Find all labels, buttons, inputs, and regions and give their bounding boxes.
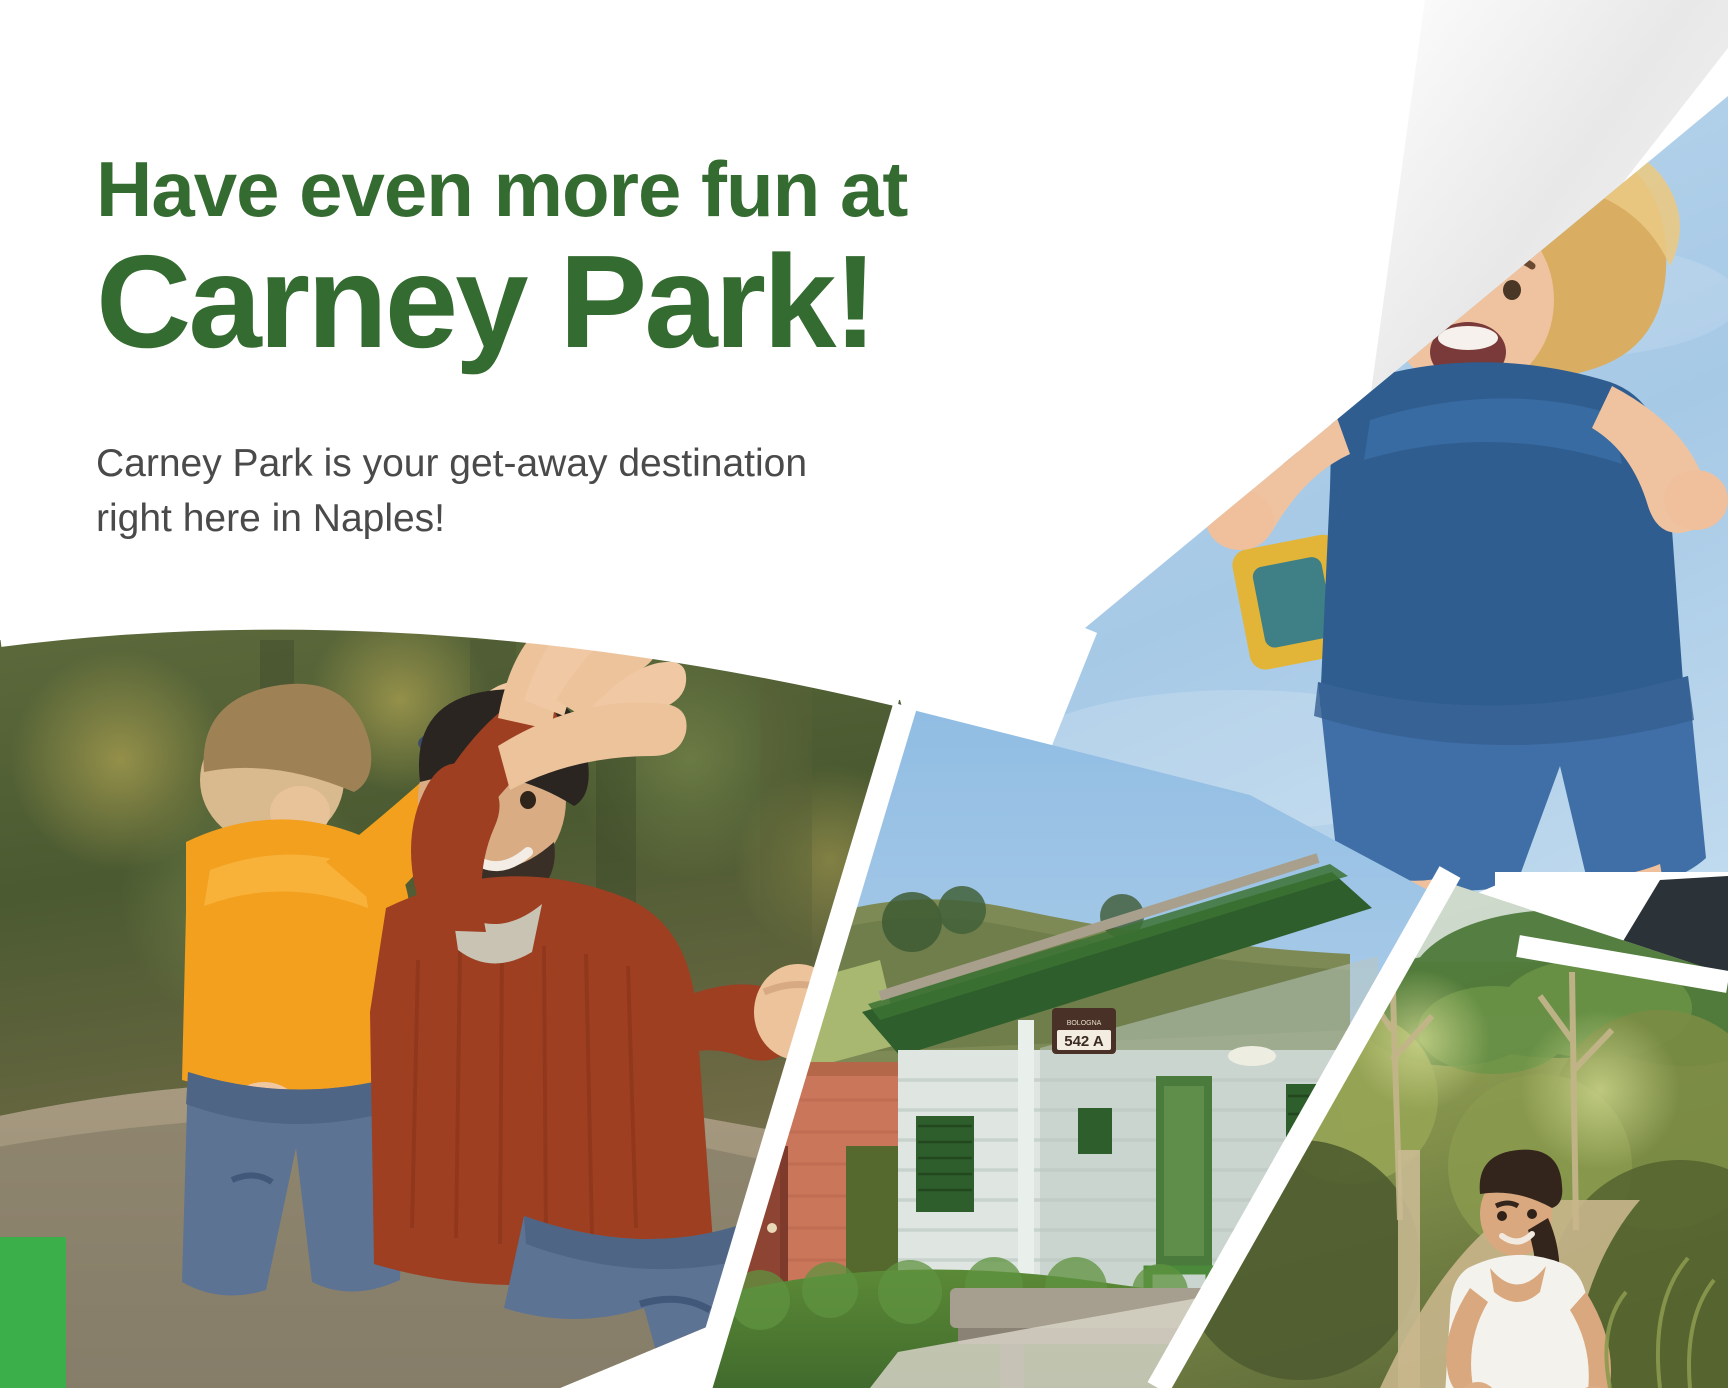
poster-root: 542 A BOLOGNA: [0, 0, 1728, 1388]
cabin-sign-name: BOLOGNA: [1067, 1020, 1102, 1027]
cabin-sign-number: 542 A: [1064, 1033, 1104, 1050]
subhead-block: Carney Park is your get-away destination…: [96, 436, 1056, 547]
cabin-number-sign: 542 A BOLOGNA: [1052, 1008, 1116, 1054]
hero-copy-block: Have even more fun at Carney Park! Carne…: [96, 150, 1056, 547]
subhead-line-1: Carney Park is your get-away destination: [96, 436, 1056, 491]
subhead-line-2: right here in Naples!: [96, 491, 1056, 546]
headline-line-1: Have even more fun at: [96, 150, 1056, 228]
headline-line-2: Carney Park!: [96, 236, 1056, 368]
bottom-left-green-accent: [0, 1237, 66, 1388]
